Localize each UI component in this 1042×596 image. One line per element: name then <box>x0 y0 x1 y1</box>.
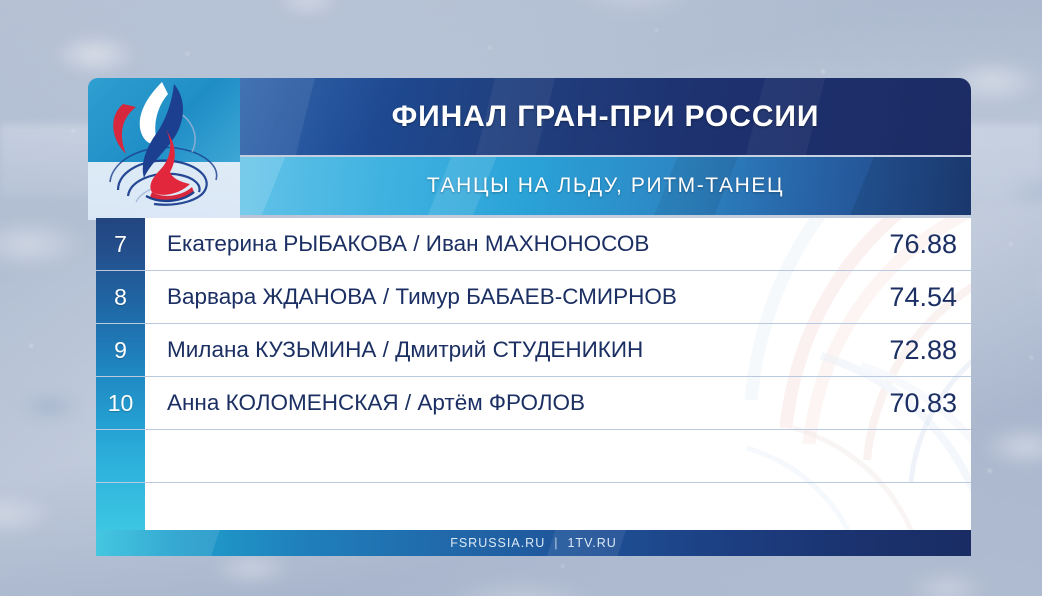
discipline-subtitle-bar: ТАНЦЫ НА ЛЬДУ, РИТМ-ТАНЕЦ <box>240 157 971 215</box>
row-athlete-names: Екатерина РЫБАКОВА / Иван МАХНОНОСОВ <box>145 231 837 257</box>
footer-broadcaster-site[interactable]: 1TV.RU <box>567 536 616 550</box>
table-row[interactable]: 10 Анна КОЛОМЕНСКАЯ / Артём ФРОЛОВ 70.83 <box>96 377 971 430</box>
results-row-list: 7 Екатерина РЫБАКОВА / Иван МАХНОНОСОВ 7… <box>96 218 971 530</box>
table-row[interactable]: 9 Милана КУЗЬМИНА / Дмитрий СТУДЕНИКИН 7… <box>96 324 971 377</box>
row-score: 74.54 <box>837 282 971 313</box>
row-score: 70.83 <box>837 388 971 419</box>
discipline-subtitle: ТАНЦЫ НА ЛЬДУ, РИТМ-ТАНЕЦ <box>427 174 784 198</box>
federation-logo-block <box>88 78 240 220</box>
row-athlete-names: Анна КОЛОМЕНСКАЯ / Артём ФРОЛОВ <box>145 390 837 416</box>
footer-links: FSRUSSIA.RU|1TV.RU <box>450 536 617 550</box>
row-athlete-names: Варвара ЖДАНОВА / Тимур БАБАЕВ-СМИРНОВ <box>145 284 837 310</box>
footer-bar: FSRUSSIA.RU|1TV.RU <box>96 530 971 556</box>
footer-separator: | <box>545 536 567 550</box>
row-athlete-names: Милана КУЗЬМИНА / Дмитрий СТУДЕНИКИН <box>145 337 837 363</box>
row-rank: 9 <box>96 337 145 364</box>
row-score: 76.88 <box>837 229 971 260</box>
row-score: 72.88 <box>837 335 971 366</box>
footer-federation-site[interactable]: FSRUSSIA.RU <box>450 536 545 550</box>
table-row[interactable]: 8 Варвара ЖДАНОВА / Тимур БАБАЕВ-СМИРНОВ… <box>96 271 971 324</box>
table-row-empty <box>96 430 971 483</box>
row-rank: 7 <box>96 231 145 258</box>
event-title-bar: ФИНАЛ ГРАН-ПРИ РОССИИ <box>240 78 971 155</box>
row-rank: 8 <box>96 284 145 311</box>
federation-flame-skater-icon <box>88 78 240 220</box>
table-row-empty <box>96 483 971 530</box>
event-title: ФИНАЛ ГРАН-ПРИ РОССИИ <box>392 100 820 134</box>
scoreboard-panel: ФИНАЛ ГРАН-ПРИ РОССИИ ТАНЦЫ НА ЛЬДУ, РИТ… <box>88 60 971 556</box>
row-rank: 10 <box>96 390 145 417</box>
results-table: 7 Екатерина РЫБАКОВА / Иван МАХНОНОСОВ 7… <box>96 218 971 530</box>
table-row[interactable]: 7 Екатерина РЫБАКОВА / Иван МАХНОНОСОВ 7… <box>96 218 971 271</box>
